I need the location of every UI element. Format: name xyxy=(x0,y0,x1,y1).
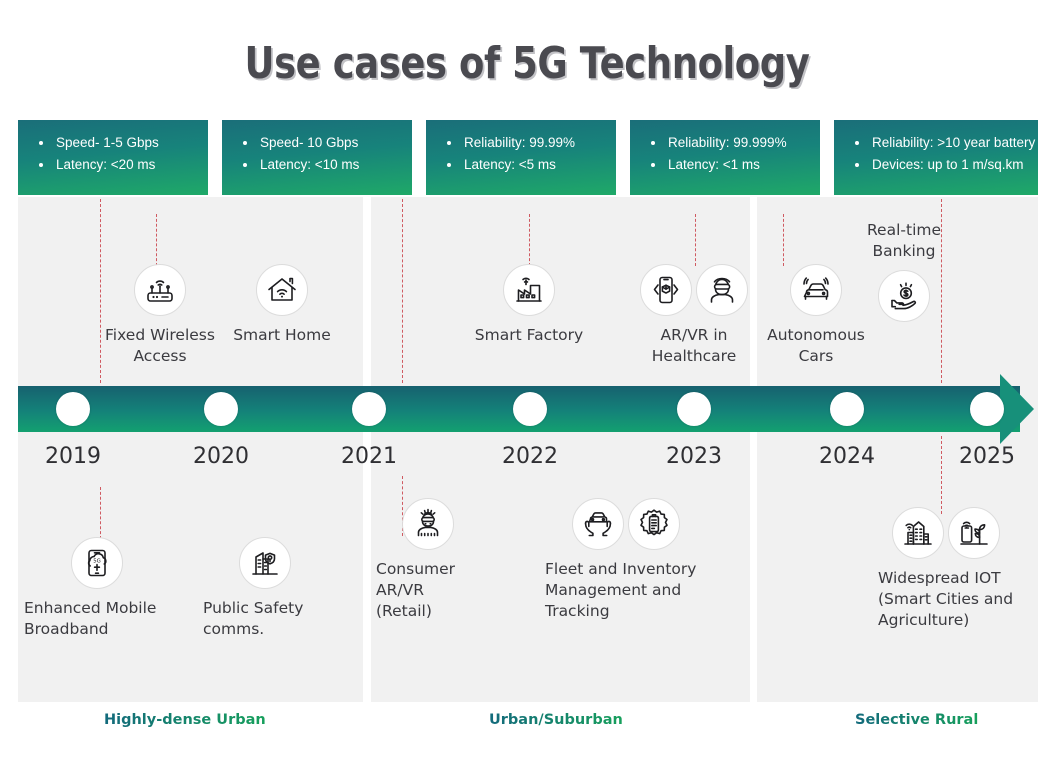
infographic-canvas: Use cases of 5G Technology Speed- 1-5 Gb… xyxy=(0,0,1054,766)
timeline-year-label: 2022 xyxy=(475,444,585,469)
smart-home-icon xyxy=(256,264,308,316)
timeline-year-label: 2019 xyxy=(18,444,128,469)
use-case-icon-row xyxy=(632,264,756,316)
connector-dashed-line xyxy=(695,214,696,266)
use-case-fleet-inventory[interactable]: Fleet and Inventory Management and Track… xyxy=(545,498,707,622)
connector-dashed-line xyxy=(100,487,101,539)
use-case-label: Consumer AR/VR (Retail) xyxy=(376,559,480,622)
page-title: Use cases of 5G Technology xyxy=(84,38,969,89)
use-case-label: Fixed Wireless Access xyxy=(100,325,220,367)
connector-dashed-line xyxy=(783,214,784,266)
stat-card-line: Latency: <5 ms xyxy=(442,154,606,176)
use-case-label: Enhanced Mobile Broadband xyxy=(24,598,170,640)
timeline-year-label: 2024 xyxy=(792,444,902,469)
use-case-label: Smart Home xyxy=(222,325,342,346)
use-case-icon-row xyxy=(203,537,327,589)
use-case-smart-home[interactable]: Smart Home xyxy=(222,264,342,346)
use-case-widespread-iot[interactable]: Widespread IOT (Smart Cities and Agricul… xyxy=(878,507,1014,631)
svg-text:5G: 5G xyxy=(93,559,101,565)
stat-card: Reliability: 99.99%Latency: <5 ms xyxy=(426,120,616,195)
timeline-node[interactable] xyxy=(970,392,1004,426)
smart-factory-icon xyxy=(503,264,555,316)
use-case-label: Widespread IOT (Smart Cities and Agricul… xyxy=(878,568,1014,631)
use-case-icon-row xyxy=(376,498,480,550)
stat-card: Reliability: 99.999%Latency: <1 ms xyxy=(630,120,820,195)
timeline-arrow-icon xyxy=(1000,374,1034,444)
timeline-node[interactable] xyxy=(204,392,238,426)
use-case-label: AR/VR in Healthcare xyxy=(632,325,756,367)
use-case-label: Fleet and Inventory Management and Track… xyxy=(545,559,707,622)
vr-doctor-icon xyxy=(696,264,748,316)
stat-card-line: Reliability: 99.99% xyxy=(442,132,606,154)
mobile-5g-icon: 5G xyxy=(71,537,123,589)
use-case-icon-row xyxy=(845,270,963,322)
region-urban-suburban: Urban/Suburban xyxy=(489,712,623,728)
stat-card-line: Devices: up to 1 m/sq.km xyxy=(850,154,1028,176)
connector-dashed-line xyxy=(402,199,403,383)
use-case-label: Real-time Banking xyxy=(845,220,963,262)
use-case-icon-row: 5G xyxy=(24,537,170,589)
stat-card: Speed- 10 GbpsLatency: <10 ms xyxy=(222,120,412,195)
autonomous-car-icon xyxy=(790,264,842,316)
inventory-gear-icon xyxy=(628,498,680,550)
timeline-node[interactable] xyxy=(513,392,547,426)
use-case-icon-row xyxy=(100,264,220,316)
connector-dashed-line xyxy=(529,214,530,266)
region-highly-dense-urban: Highly-dense Urban xyxy=(104,712,266,728)
use-case-fixed-wireless-access[interactable]: Fixed Wireless Access xyxy=(100,264,220,367)
stat-cards-row: Speed- 1-5 GbpsLatency: <20 msSpeed- 10 … xyxy=(18,120,1038,195)
use-case-icon-row xyxy=(468,264,590,316)
timeline-year-label: 2021 xyxy=(314,444,424,469)
timeline-node[interactable] xyxy=(56,392,90,426)
region-selective-rural: Selective Rural xyxy=(855,712,978,728)
timeline-node[interactable] xyxy=(830,392,864,426)
connector-dashed-line xyxy=(156,214,157,266)
use-case-enhanced-mobile-broadband[interactable]: 5G Enhanced Mobile Broadband xyxy=(24,537,170,640)
stat-card-line: Latency: <20 ms xyxy=(34,154,198,176)
agriculture-icon xyxy=(948,507,1000,559)
use-case-real-time-banking[interactable]: Real-time Banking xyxy=(845,220,963,322)
public-safety-icon xyxy=(239,537,291,589)
timeline-year-label: 2020 xyxy=(166,444,276,469)
stat-card: Reliability: >10 year batteryDevices: up… xyxy=(834,120,1038,195)
use-case-consumer-ar-vr-retail[interactable]: Consumer AR/VR (Retail) xyxy=(376,498,480,622)
use-case-icon-row xyxy=(222,264,342,316)
stat-card-line: Speed- 10 Gbps xyxy=(238,132,402,154)
stat-card-line: Reliability: >10 year battery xyxy=(850,132,1028,154)
ar-phone-icon xyxy=(640,264,692,316)
stat-card-line: Latency: <10 ms xyxy=(238,154,402,176)
stat-card-line: Speed- 1-5 Gbps xyxy=(34,132,198,154)
timeline-node[interactable] xyxy=(352,392,386,426)
timeline-year-label: 2023 xyxy=(639,444,749,469)
use-case-public-safety-comms[interactable]: Public Safety comms. xyxy=(203,537,327,640)
ar-vr-consumer-icon xyxy=(402,498,454,550)
use-case-icon-row xyxy=(545,498,707,550)
timeline-node[interactable] xyxy=(677,392,711,426)
fleet-car-hands-icon xyxy=(572,498,624,550)
banking-hand-icon xyxy=(878,270,930,322)
smart-city-icon xyxy=(892,507,944,559)
use-case-ar-vr-healthcare[interactable]: AR/VR in Healthcare xyxy=(632,264,756,367)
stat-card: Speed- 1-5 GbpsLatency: <20 ms xyxy=(18,120,208,195)
use-case-label: Autonomous Cars xyxy=(757,325,875,367)
use-case-label: Smart Factory xyxy=(468,325,590,346)
use-case-icon-row xyxy=(878,507,1014,559)
use-case-smart-factory[interactable]: Smart Factory xyxy=(468,264,590,346)
stat-card-line: Reliability: 99.999% xyxy=(646,132,810,154)
use-case-label: Public Safety comms. xyxy=(203,598,327,640)
timeline-year-label: 2025 xyxy=(932,444,1042,469)
stat-card-line: Latency: <1 ms xyxy=(646,154,810,176)
router-wifi-icon xyxy=(134,264,186,316)
